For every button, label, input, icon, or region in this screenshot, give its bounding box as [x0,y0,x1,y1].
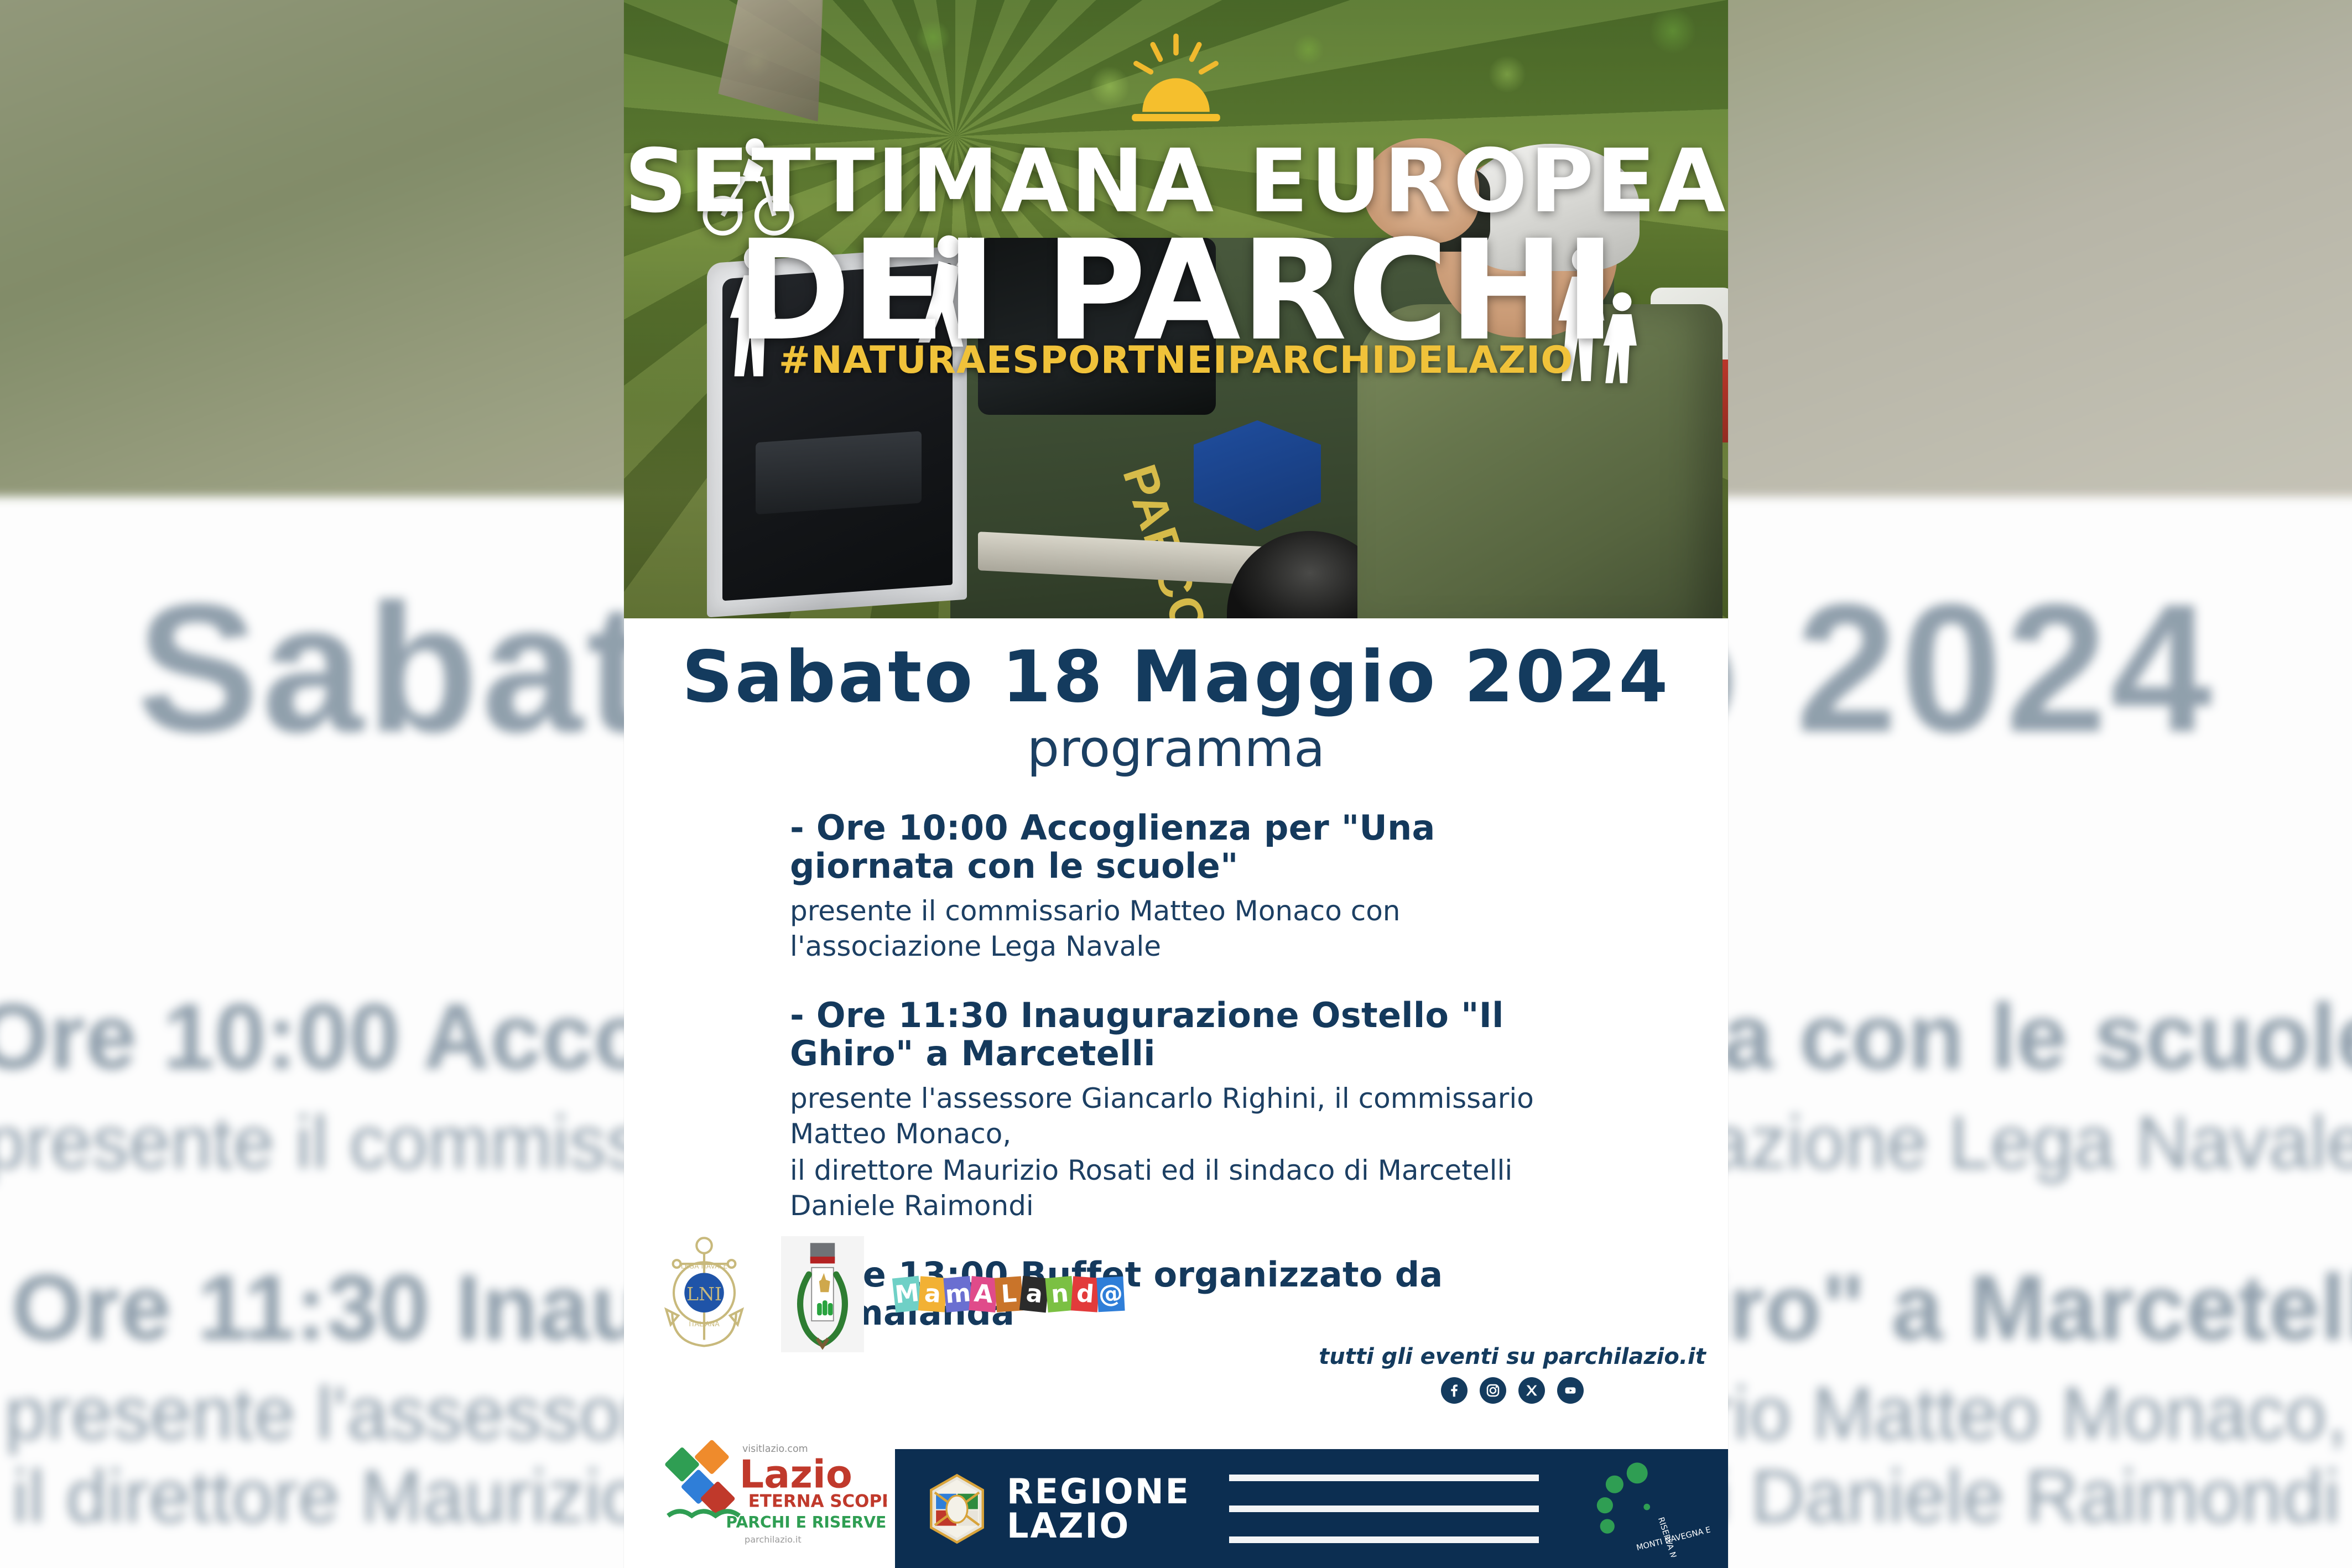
events-text: tutti gli eventi su parchilazio.it [1319,1344,1706,1369]
events-promo: tutti gli eventi su parchilazio.it [1319,1344,1706,1404]
svg-text:LEGA NAVALE: LEGA NAVALE [681,1262,728,1270]
lazio-word: Lazio [740,1452,852,1497]
program-label: programma [624,719,1728,778]
comune-marcetelli-crest [781,1236,864,1352]
regione-lazio-label: REGIONE LAZIO [1007,1475,1190,1543]
mamalanda-letter: m [943,1276,972,1312]
sponsor-logos: LNI LEGA NAVALE ITALIANA M [657,1231,1055,1358]
mamalanda-letter: M [892,1276,922,1313]
regione-lazio-crest-icon [926,1473,988,1544]
mamalanda-letter: n [1045,1276,1074,1312]
paw-leaf-icon: RISERVA NATURALE MONTI NAVEGNA E CERVIA [1572,1460,1710,1557]
facebook-icon[interactable] [1441,1377,1468,1404]
youtube-icon[interactable] [1557,1377,1584,1404]
poster-card: PARCO [624,0,1728,1568]
social-links [1319,1377,1706,1404]
regione-line-2: LAZIO [1007,1509,1190,1543]
mamalanda-letter: L [995,1276,1023,1312]
svg-text:ETERNA SCOPERTA: ETERNA SCOPERTA [748,1491,887,1511]
program-item: - Ore 10:00 Accoglienza per "Una giornat… [790,809,1564,964]
anchor-icon: LNI LEGA NAVALE ITALIANA [657,1233,751,1355]
lazio-brand-icon: visitlazio.com Lazio ETERNA SCOPERTA PAR… [654,1432,887,1551]
lazio-eterna-scoperta-logo: visitlazio.com Lazio ETERNA SCOPERTA PAR… [654,1432,887,1551]
regione-line-1: REGIONE [1007,1475,1190,1509]
riserva-navegna-cervia-logo: RISERVA NATURALE MONTI NAVEGNA E CERVIA [1572,1460,1710,1557]
decorative-rules [1229,1450,1539,1567]
program-item-detail: presente il commissario Matteo Monaco co… [790,893,1564,964]
instagram-icon[interactable] [1480,1377,1506,1404]
svg-text:LNI: LNI [686,1283,722,1305]
program-item: - Ore 11:30 Inaugurazione Ostello "Il Gh… [790,996,1564,1223]
campaign-hashtag: #NATURAESPORTNEIPARCHIDELAZIO [779,338,1573,382]
mamalanda-letter: d [1071,1276,1100,1312]
program-item-detail: presente l'assessore Giancarlo Righini, … [790,1081,1564,1152]
rule-line [1229,1475,1539,1481]
mamalanda-logo: M a m A L a n d @ [894,1268,1123,1321]
program-item-detail: il direttore Maurizio Rosati ed il sinda… [790,1153,1564,1223]
event-date-title: Sabato 18 Maggio 2024 [624,636,1728,718]
rule-line [1229,1536,1539,1543]
lega-navale-logo: LNI LEGA NAVALE ITALIANA [657,1233,751,1355]
mamalanda-letter: @ [1096,1277,1125,1312]
mamalanda-letter: a [918,1276,947,1312]
svg-text:ITALIANA: ITALIANA [689,1320,720,1328]
town-crest-icon [781,1236,864,1352]
x-twitter-icon[interactable] [1518,1377,1545,1404]
regione-lazio-bar: REGIONE LAZIO RISERVA NATURALE MONTI NAV… [895,1449,1728,1568]
mamalanda-letter: A [969,1276,998,1312]
svg-text:PARCHI E RISERVE NATURALI: PARCHI E RISERVE NATURALI [726,1513,887,1531]
program-item-headline: - Ore 10:00 Accoglienza per "Una giornat… [790,809,1564,885]
rule-line [1229,1506,1539,1512]
hero-photo: PARCO [624,0,1728,618]
sun-icon [1123,30,1229,135]
svg-text:parchilazio.it: parchilazio.it [745,1534,802,1545]
program-item-headline: - Ore 11:30 Inaugurazione Ostello "Il Gh… [790,996,1564,1073]
